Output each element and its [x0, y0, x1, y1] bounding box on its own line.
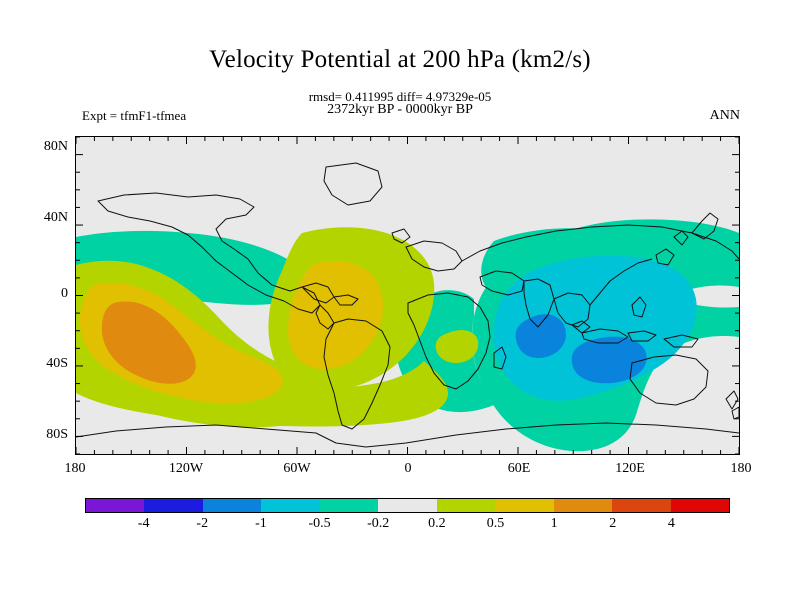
colorbar-swatch-3 — [261, 499, 319, 512]
colorbar-swatch-6 — [437, 499, 495, 512]
colorbar-swatch-7 — [495, 499, 553, 512]
x-tick-label-60w: 60W — [267, 461, 327, 477]
colorbar-tick--2: -2 — [179, 516, 225, 532]
colorbar-swatch-9 — [612, 499, 670, 512]
page-title: Velocity Potential at 200 hPa (km2/s) — [0, 46, 800, 74]
y-tick-label-80n: 80N — [8, 139, 68, 155]
x-tick-label-180e: 180 — [711, 461, 771, 477]
colorbar-tick-1: 1 — [531, 516, 577, 532]
colorbar-swatch-5 — [378, 499, 436, 512]
x-tick-label-120e: 120E — [600, 461, 660, 477]
map-plot-area — [75, 136, 740, 455]
season-label: ANN — [0, 108, 740, 124]
y-tick-label-40n: 40N — [8, 210, 68, 226]
figure-canvas: Velocity Potential at 200 hPa (km2/s) rm… — [0, 0, 800, 600]
y-tick-label-0: 0 — [8, 286, 68, 302]
y-tick-label-40s: 40S — [8, 356, 68, 372]
x-tick-label-60e: 60E — [489, 461, 549, 477]
colorbar-tick-2: 2 — [590, 516, 636, 532]
colorbar-tick--0.5: -0.5 — [297, 516, 343, 532]
colorbar-tick-0.5: 0.5 — [472, 516, 518, 532]
colorbar-swatch-1 — [144, 499, 202, 512]
colorbar-swatch-10 — [671, 499, 729, 512]
colorbar-tick-4: 4 — [648, 516, 694, 532]
x-tick-label-0: 0 — [378, 461, 438, 477]
colorbar-tick--1: -1 — [238, 516, 284, 532]
colorbar-swatch-4 — [320, 499, 378, 512]
colorbar-swatch-8 — [554, 499, 612, 512]
y-tick-label-80s: 80S — [8, 427, 68, 443]
colorbar-swatch-0 — [86, 499, 144, 512]
x-tick-label-180w: 180 — [45, 461, 105, 477]
velocity-potential-contour-map — [76, 137, 739, 454]
colorbar-swatch-2 — [203, 499, 261, 512]
colorbar-tick--0.2: -0.2 — [355, 516, 401, 532]
colorbar-tick--4: -4 — [121, 516, 167, 532]
colorbar-tick-0.2: 0.2 — [414, 516, 460, 532]
colorbar — [85, 498, 730, 513]
x-tick-label-120w: 120W — [156, 461, 216, 477]
